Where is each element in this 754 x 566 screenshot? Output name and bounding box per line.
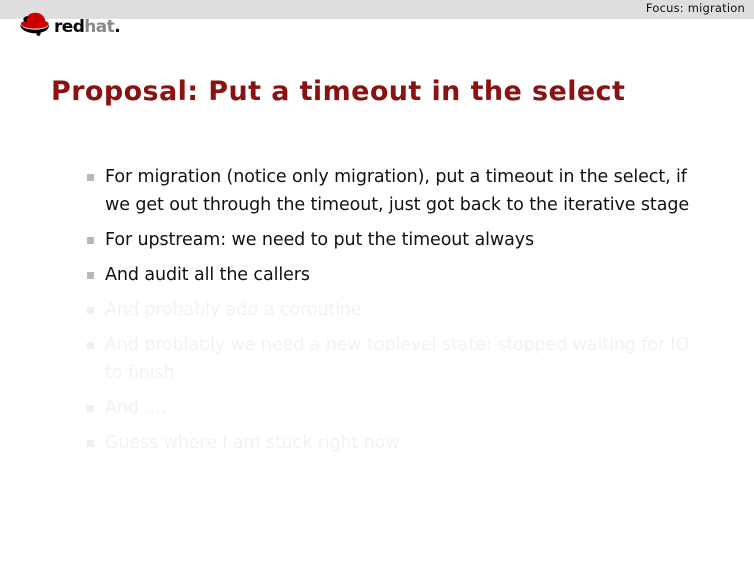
bullet-square-icon bbox=[87, 307, 94, 314]
logo-word-hat: hat bbox=[84, 17, 114, 37]
bullet-text: For upstream: we need to put the timeout… bbox=[105, 226, 706, 254]
bullet-item-faded: Guess where I am stuck right now bbox=[86, 429, 706, 457]
bullet-item: And audit all the callers bbox=[86, 261, 706, 289]
bullet-text: And problably we need a new toplevel sta… bbox=[105, 331, 706, 387]
redhat-shadowman-icon bbox=[18, 12, 52, 38]
bullet-list: For migration (notice only migration), p… bbox=[86, 163, 706, 464]
bullet-square-icon bbox=[87, 342, 94, 349]
logo-word-red: red bbox=[54, 17, 84, 37]
bullet-square-icon bbox=[87, 272, 94, 279]
focus-label: Focus: migration bbox=[646, 1, 745, 15]
bullet-text: And probably add a coroutine bbox=[105, 296, 706, 324]
slide-title: Proposal: Put a timeout in the select bbox=[51, 76, 625, 107]
bullet-text: And .... bbox=[105, 394, 706, 422]
bullet-square-icon bbox=[87, 440, 94, 447]
bullet-text: For migration (notice only migration), p… bbox=[105, 163, 706, 219]
bullet-item-faded: And .... bbox=[86, 394, 706, 422]
redhat-logo: redhat. bbox=[18, 10, 120, 40]
redhat-wordmark: redhat. bbox=[54, 19, 120, 36]
bullet-square-icon bbox=[87, 174, 94, 181]
bullet-item-faded: And probably add a coroutine bbox=[86, 296, 706, 324]
bullet-text: And audit all the callers bbox=[105, 261, 706, 289]
bullet-square-icon bbox=[87, 237, 94, 244]
bullet-square-icon bbox=[87, 405, 94, 412]
bullet-text: Guess where I am stuck right now bbox=[105, 429, 706, 457]
bullet-item: For migration (notice only migration), p… bbox=[86, 163, 706, 219]
bullet-item-faded: And problably we need a new toplevel sta… bbox=[86, 331, 706, 387]
logo-word-dot: . bbox=[114, 17, 120, 37]
bullet-item: For upstream: we need to put the timeout… bbox=[86, 226, 706, 254]
